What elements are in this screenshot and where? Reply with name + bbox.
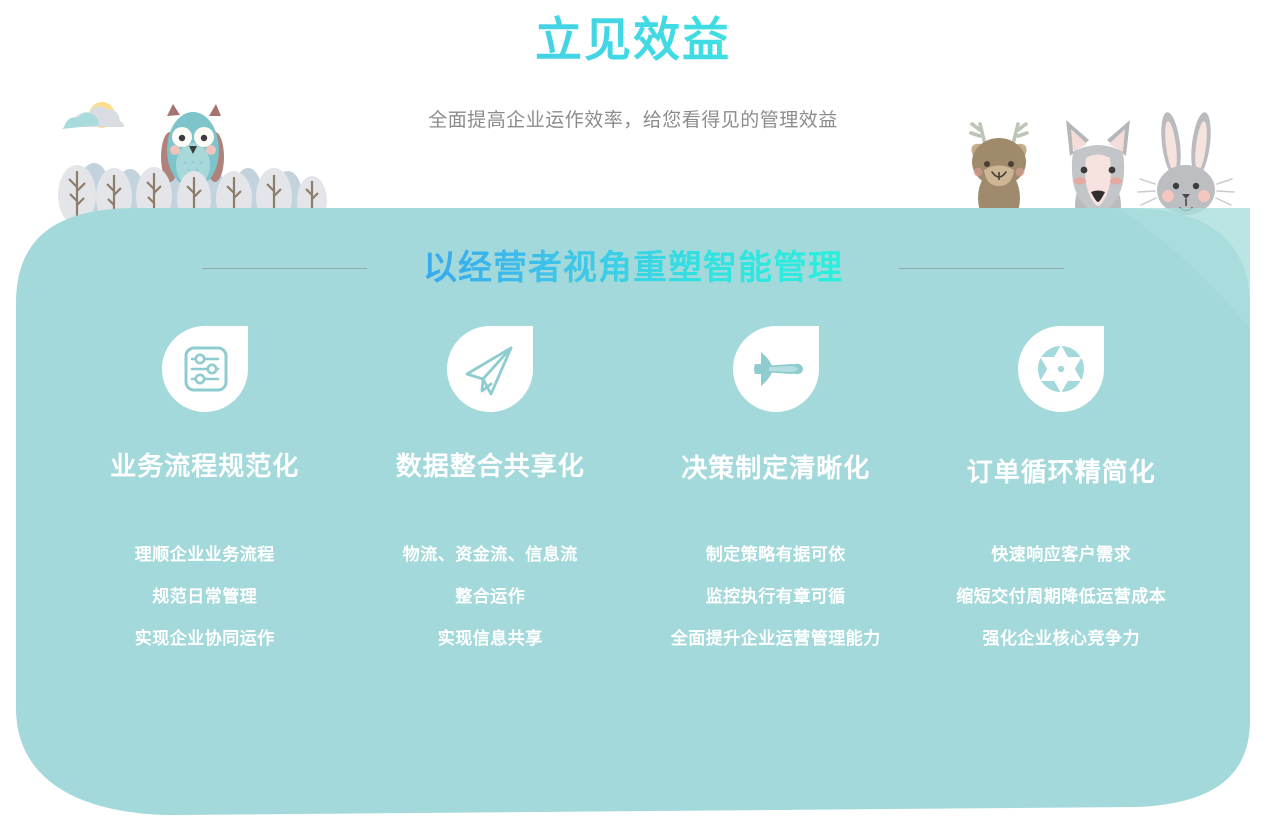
feature-card-order-cycle[interactable]: 订单循环精简化 快速响应客户需求 缩短交付周期降低运营成本 强化企业核心竞争力 [919, 326, 1205, 650]
aperture-icon [1018, 326, 1104, 412]
feature-title: 数据整合共享化 [396, 448, 585, 484]
list-item: 物流、资金流、信息流 [403, 544, 578, 566]
list-item: 整合运作 [455, 586, 525, 608]
sliders-icon [162, 326, 248, 412]
cloud-icon [62, 106, 124, 129]
list-item: 实现信息共享 [438, 628, 543, 650]
page-root: 立见效益 全面提高企业运作效率，给您看得见的管理效益 [0, 0, 1266, 826]
section-title: 以经营者视角重塑智能管理 [423, 244, 843, 292]
list-item: 制定策略有据可依 [706, 544, 846, 566]
feature-benefit-list: 物流、资金流、信息流 整合运作 实现信息共享 [403, 544, 578, 650]
feature-card-business-process[interactable]: 业务流程规范化 理顺企业业务流程 规范日常管理 实现企业协同运作 [62, 326, 348, 650]
page-title: 立见效益 [0, 8, 1266, 72]
feature-benefit-list: 理顺企业业务流程 规范日常管理 实现企业协同运作 [135, 544, 275, 650]
list-item: 理顺企业业务流程 [135, 544, 275, 566]
feature-columns: 业务流程规范化 理顺企业业务流程 规范日常管理 实现企业协同运作 [62, 326, 1204, 650]
list-item: 规范日常管理 [152, 586, 257, 608]
list-item: 快速响应客户需求 [991, 544, 1131, 566]
feature-card-data-integration[interactable]: 数据整合共享化 物流、资金流、信息流 整合运作 实现信息共享 [348, 326, 634, 650]
list-item: 缩短交付周期降低运营成本 [956, 586, 1166, 608]
feature-title: 订单循环精简化 [967, 454, 1156, 490]
feature-card-decision-making[interactable]: 决策制定清晰化 制定策略有据可依 监控执行有章可循 全面提升企业运营管理能力 [633, 326, 919, 650]
list-item: 全面提升企业运营管理能力 [671, 628, 881, 650]
feature-title: 业务流程规范化 [110, 448, 299, 484]
feature-benefit-list: 快速响应客户需求 缩短交付周期降低运营成本 强化企业核心竞争力 [956, 544, 1166, 650]
benefits-panel: 以经营者视角重塑智能管理 [16, 208, 1250, 816]
feature-benefit-list: 制定策略有据可依 监控执行有章可循 全面提升企业运营管理能力 [671, 544, 881, 650]
feature-title: 决策制定清晰化 [681, 450, 870, 486]
list-item: 实现企业协同运作 [135, 628, 275, 650]
list-item: 监控执行有章可循 [706, 586, 846, 608]
paper-plane-icon [447, 326, 533, 412]
section-heading: 以经营者视角重塑智能管理 [16, 244, 1250, 292]
space-shuttle-icon [733, 326, 819, 412]
divider-right [899, 268, 1064, 269]
list-item: 强化企业核心竞争力 [983, 628, 1141, 650]
divider-left [202, 268, 367, 269]
